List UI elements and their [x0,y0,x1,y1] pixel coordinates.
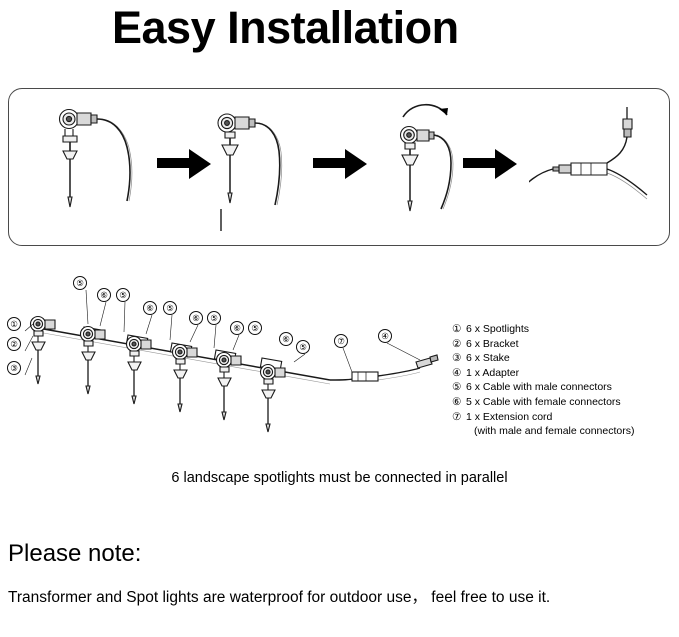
legend-item: ⑦ 1 x Extension cord [452,410,672,425]
wiring-callout-5c: ⑤ [163,301,177,315]
wiring-callout-6e: ⑥ [279,332,293,346]
note-body: Transformer and Spot lights are waterpro… [8,586,648,610]
wiring-callout-6a: ⑥ [97,288,111,302]
step-2-illustration [205,89,315,245]
parts-legend: ① 6 x Spotlights ② 6 x Bracket ③ 6 x Sta… [452,322,672,439]
legend-item: ⑥ 5 x Cable with female connectors [452,395,672,410]
legend-number: ⑦ [452,410,466,425]
legend-label: 6 x Cable with male connectors [466,380,672,395]
legend-sub-note: (with male and female connectors) [452,424,672,439]
legend-label: 1 x Adapter [466,366,672,381]
legend-item: ① 6 x Spotlights [452,322,672,337]
wiring-callout-5d: ⑤ [207,311,221,325]
wiring-callout-4: ④ [378,329,392,343]
legend-label: 6 x Bracket [466,337,672,352]
legend-number: ④ [452,366,466,381]
legend-number: ⑤ [452,380,466,395]
legend-item: ④ 1 x Adapter [452,366,672,381]
note-heading: Please note: [8,540,141,568]
wiring-caption: 6 landscape spotlights must be connected… [0,470,679,486]
legend-item: ③ 6 x Stake [452,351,672,366]
parallel-wiring-diagram: ① ② ③ ⑤ ⑥ ⑤ ⑥ ⑤ ⑥ ⑤ ⑥ ⑤ ⑥ ⑤ ⑦ ④ [0,262,440,452]
wiring-callout-5b: ⑤ [116,288,130,302]
arrow-right-icon [461,147,519,181]
wiring-callout-2: ② [7,337,21,351]
legend-number: ① [452,322,466,337]
wiring-callout-5e: ⑤ [248,321,262,335]
step-4-extension-cord-with-connectors [529,89,669,245]
legend-label: 6 x Stake [466,351,672,366]
installation-steps-panel [8,88,670,246]
legend-item: ② 6 x Bracket [452,337,672,352]
step-4-illustration [529,89,669,245]
legend-number: ⑥ [452,395,466,410]
wiring-callout-3: ③ [7,361,21,375]
legend-label: 5 x Cable with female connectors [466,395,672,410]
step-2-spotlight-mounted-on-stake [205,89,315,245]
step-1-illustration [27,89,157,245]
wiring-callout-5a: ⑤ [73,276,87,290]
page-title: Easy Installation [112,0,582,56]
legend-number: ② [452,337,466,352]
legend-label: 6 x Spotlights [466,322,672,337]
step-arrow-3 [461,147,519,186]
wiring-callout-6d: ⑥ [230,321,244,335]
legend-number: ③ [452,351,466,366]
arrow-right-icon [311,147,369,181]
legend-item: ⑤ 6 x Cable with male connectors [452,380,672,395]
wiring-illustration [0,262,440,452]
installation-instruction-page: Easy Installation [0,0,679,637]
step-arrow-2 [311,147,369,186]
wiring-callout-7: ⑦ [334,334,348,348]
wiring-callout-6c: ⑥ [189,311,203,325]
wiring-callout-1: ① [7,317,21,331]
legend-label: 1 x Extension cord [466,410,672,425]
wiring-callout-6b: ⑥ [143,301,157,315]
wiring-callout-5f: ⑤ [296,340,310,354]
step-1-spotlight-with-stake-and-cable [27,89,157,245]
